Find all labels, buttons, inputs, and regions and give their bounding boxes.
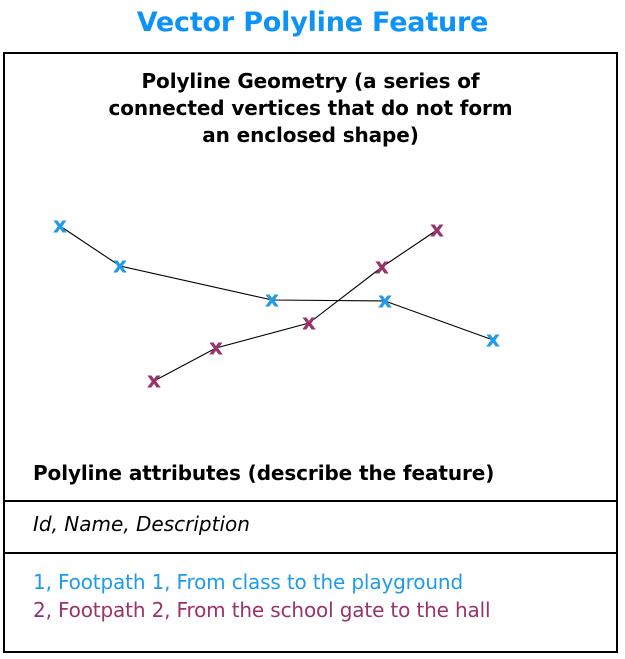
attributes-header-label: Polyline attributes (describe the featur… (33, 461, 494, 485)
polyline-path (154, 230, 437, 381)
polyline-diagram: xxxxxxxxxx (5, 54, 616, 452)
vertex-x-marker: x (265, 288, 279, 313)
polyline-path (60, 226, 493, 340)
attributes-field-names-label: Id, Name, Description (33, 512, 250, 536)
vertex-x-marker: x (486, 328, 500, 353)
vertex-x-marker: x (209, 336, 223, 361)
geometry-panel: Polyline Geometry (a series of connected… (5, 54, 616, 452)
attributes-header-row: Polyline attributes (describe the featur… (5, 452, 616, 502)
attributes-values-row: 1, Footpath 1, From class to the playgro… (5, 554, 616, 651)
vertex-x-marker: x (113, 254, 127, 279)
table-row: 1, Footpath 1, From class to the playgro… (33, 570, 463, 594)
vertex-x-marker: x (430, 218, 444, 243)
polyline-vertices-group: xxxxxxxxxx (53, 214, 500, 394)
figure-frame: Polyline Geometry (a series of connected… (3, 52, 618, 653)
page-title: Vector Polyline Feature (0, 6, 625, 40)
vertex-x-marker: x (302, 311, 316, 336)
table-row: 2, Footpath 2, From the school gate to t… (33, 598, 490, 622)
attributes-field-names-row: Id, Name, Description (5, 502, 616, 554)
vertex-x-marker: x (53, 214, 67, 239)
vertex-x-marker: x (147, 369, 161, 394)
attributes-table: Polyline attributes (describe the featur… (5, 452, 616, 651)
vertex-x-marker: x (375, 255, 389, 280)
vertex-x-marker: x (378, 289, 392, 314)
